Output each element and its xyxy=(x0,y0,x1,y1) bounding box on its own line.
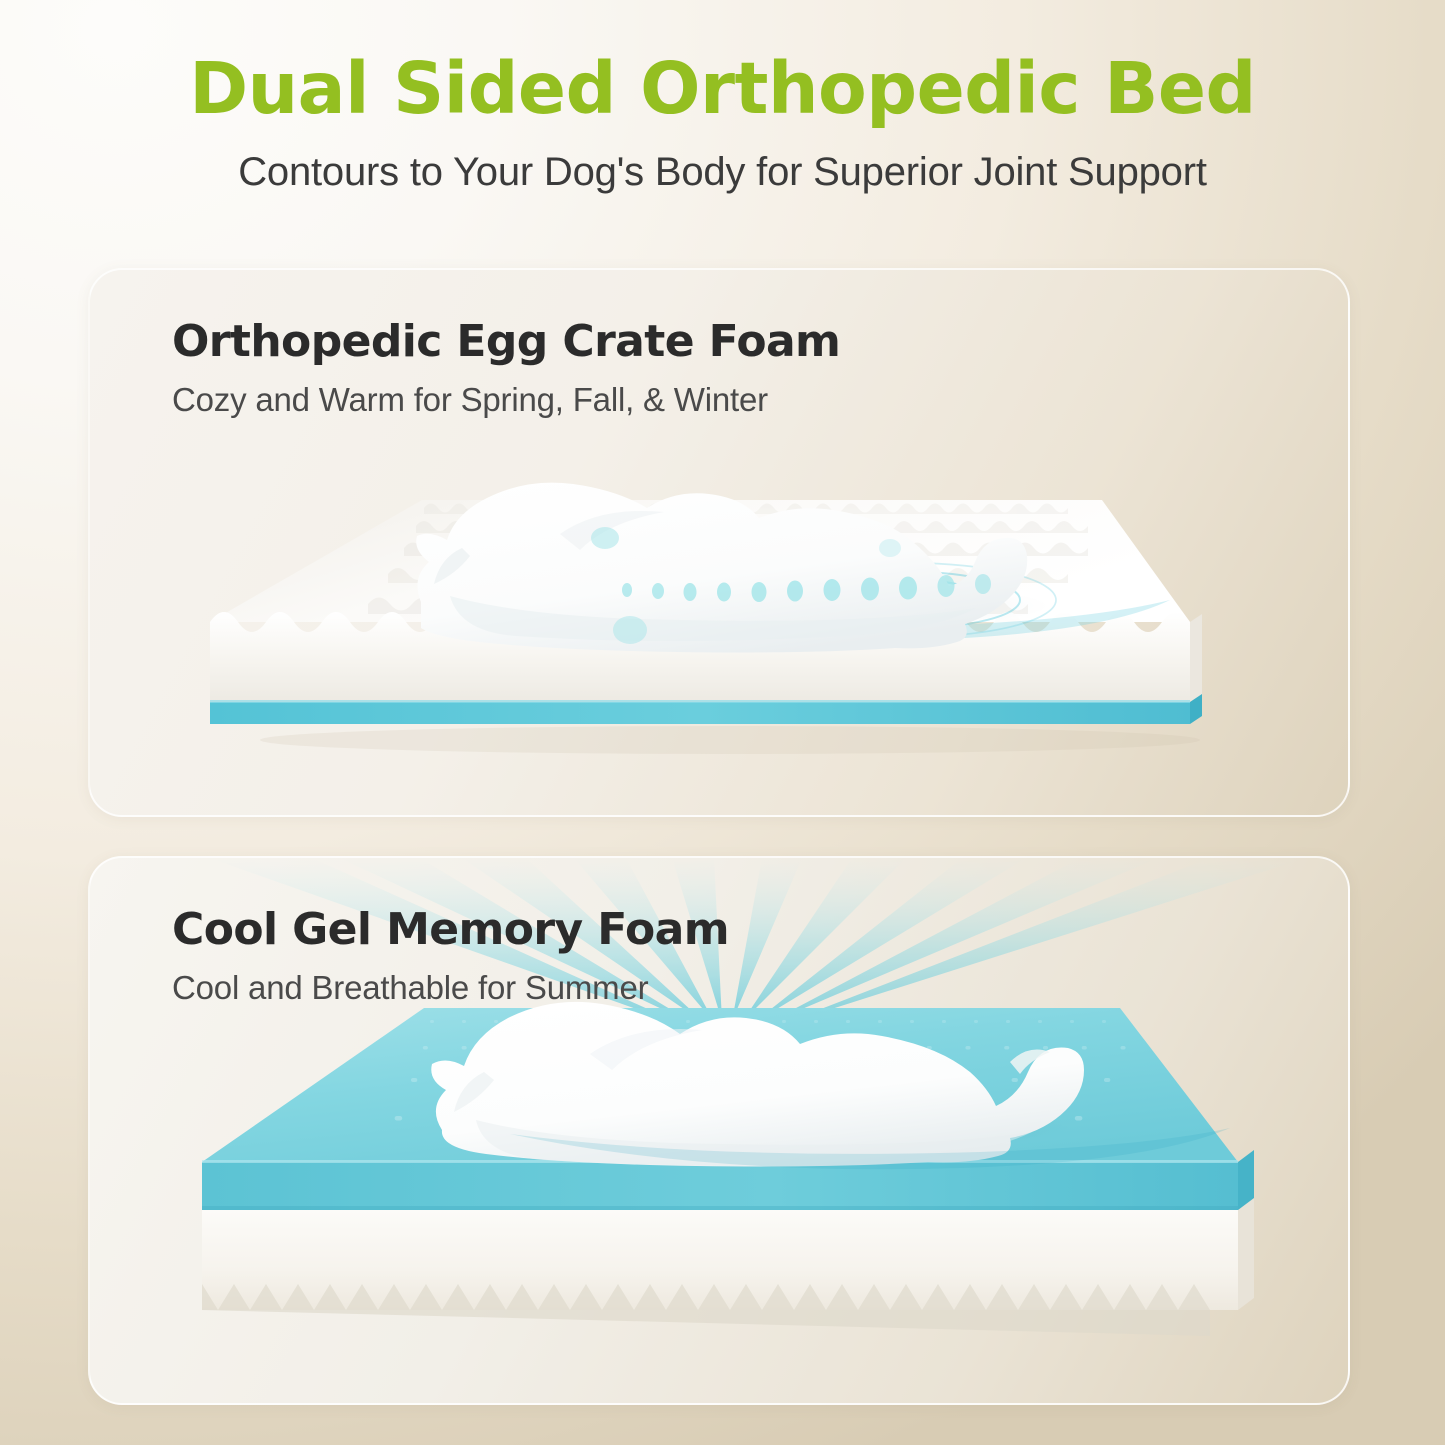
card-header: Orthopedic Egg Crate Foam Cozy and Warm … xyxy=(172,316,840,419)
page-subtitle: Contours to Your Dog's Body for Superior… xyxy=(0,150,1445,195)
header: Dual Sided Orthopedic Bed Contours to Yo… xyxy=(0,52,1445,195)
card-title: Cool Gel Memory Foam xyxy=(172,904,729,955)
base-egg-crate-foam xyxy=(202,1198,1254,1336)
page-title: Dual Sided Orthopedic Bed xyxy=(0,52,1445,126)
feature-card-cool-gel: Cool Gel Memory Foam Cool and Breathable… xyxy=(88,856,1350,1405)
card-title: Orthopedic Egg Crate Foam xyxy=(172,316,840,367)
card-subtitle: Cozy and Warm for Spring, Fall, & Winter xyxy=(172,381,840,419)
infographic-root: Dual Sided Orthopedic Bed Contours to Yo… xyxy=(0,0,1445,1445)
feature-card-egg-crate: Orthopedic Egg Crate Foam Cozy and Warm … xyxy=(88,268,1350,817)
card-subtitle: Cool and Breathable for Summer xyxy=(172,969,729,1007)
ground-shadow xyxy=(260,726,1200,754)
card-header: Cool Gel Memory Foam Cool and Breathable… xyxy=(172,904,729,1007)
